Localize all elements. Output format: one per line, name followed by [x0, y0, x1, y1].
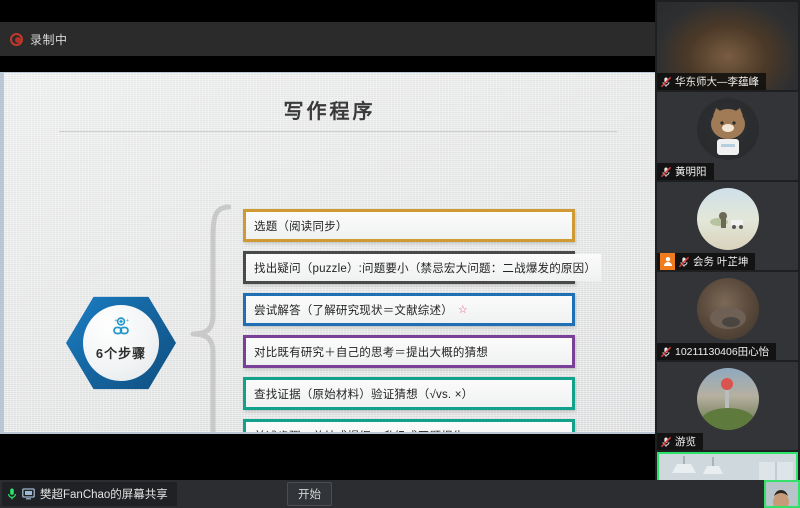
start-button-label: 开始	[298, 486, 321, 502]
presentation-slide: 写作程序 + + 6个步骤	[0, 72, 655, 434]
participant-name: 游览	[675, 434, 696, 449]
participant-name-badge: 华东师大—李蕴峰	[657, 73, 766, 90]
participant-avatar	[697, 368, 759, 430]
participant-tile[interactable]: 黄明阳	[657, 92, 798, 180]
mic-off-icon	[660, 346, 672, 358]
step-text: 前述步骤，总结成提纲→升级成开题报告	[254, 428, 465, 435]
participant-name-badge: 黄明阳	[657, 163, 714, 180]
hexagon-inner-circle: + + 6个步骤	[83, 305, 159, 381]
recording-indicator[interactable]: 录制中	[10, 31, 68, 48]
recording-toolbar: 录制中	[0, 22, 655, 56]
step-text: 找出疑问（puzzle）:问题要小（禁忌宏大问题：二战爆发的原因）	[254, 260, 596, 276]
mic-off-icon	[660, 76, 672, 88]
participant-tile[interactable]: 会务 叶芷坤	[657, 182, 798, 270]
step-star-icon: ☆	[458, 303, 468, 316]
participant-video-strip: 华东师大—李蕴峰	[655, 0, 800, 480]
svg-text:+: +	[126, 318, 129, 324]
participant-name: 黄明阳	[675, 164, 707, 179]
monitor-icon	[22, 488, 35, 500]
taskbar: 樊超FanChao的屏幕共享 开始	[0, 480, 800, 508]
letterbox-bottom	[0, 436, 655, 480]
step-box-inner: 对比既有研究＋自己的思考＝提出大概的猜想	[246, 338, 572, 365]
hexagon-label: 6个步骤	[83, 343, 159, 362]
record-dot-icon	[10, 33, 23, 46]
participant-tile[interactable]: 华东师大—李蕴峰	[657, 2, 798, 90]
mic-off-icon	[660, 166, 672, 178]
step-text: 尝试解答（了解研究现状＝文献综述）	[254, 302, 453, 318]
participant-name-badge: 游览	[657, 433, 703, 450]
step-box: 选题（阅读同步）	[243, 209, 575, 242]
step-box: 前述步骤，总结成提纲→升级成开题报告	[243, 419, 575, 434]
participant-avatar	[697, 98, 759, 160]
step-text: 对比既有研究＋自己的思考＝提出大概的猜想	[254, 344, 488, 360]
title-divider	[59, 131, 617, 132]
step-box-inner: 查找证据（原始材料）验证猜想（√vs. ×）	[246, 380, 572, 407]
mic-off-icon	[678, 256, 690, 268]
participant-name: 10211130406田心怡	[675, 344, 769, 359]
slide-title: 写作程序	[4, 95, 655, 124]
taskbar-share-label: 樊超FanChao的屏幕共享	[40, 486, 168, 502]
step-box: 查找证据（原始材料）验证猜想（√vs. ×）	[243, 377, 575, 410]
taskbar-self-video-thumb[interactable]	[764, 480, 800, 508]
screen-share-region: 录制中 写作程序 + +	[0, 0, 655, 480]
step-text: 选题（阅读同步）	[254, 218, 348, 234]
step-box-inner: 前述步骤，总结成提纲→升级成开题报告	[246, 422, 572, 434]
participant-name: 会务 叶芷坤	[693, 254, 748, 269]
mic-off-icon	[660, 436, 672, 448]
svg-text:+: +	[115, 318, 118, 324]
step-box: 找出疑问（puzzle）:问题要小（禁忌宏大问题：二战爆发的原因）	[243, 251, 575, 284]
mic-on-icon[interactable]	[6, 487, 18, 501]
participant-name: 华东师大—李蕴峰	[675, 74, 759, 89]
start-button[interactable]: 开始	[287, 482, 332, 506]
participant-avatar	[697, 188, 759, 250]
step-box-inner: 选题（阅读同步）	[246, 212, 572, 239]
letterbox-top	[0, 56, 655, 72]
step-box-inner: 找出疑问（puzzle）:问题要小（禁忌宏大问题：二战爆发的原因）	[246, 254, 601, 281]
recording-label: 录制中	[30, 31, 68, 48]
curly-brace-connector	[187, 203, 231, 434]
participant-name-badge: 10211130406田心怡	[657, 343, 776, 360]
hexagon-node: + + 6个步骤	[66, 295, 184, 403]
taskbar-share-item[interactable]: 樊超FanChao的屏幕共享	[2, 482, 177, 506]
participant-tile[interactable]: 游览	[657, 362, 798, 450]
participant-tile[interactable]: 10211130406田心怡	[657, 272, 798, 360]
step-box: 对比既有研究＋自己的思考＝提出大概的猜想	[243, 335, 575, 368]
step-box: 尝试解答（了解研究现状＝文献综述） ☆	[243, 293, 575, 326]
link-plus-icon: + +	[83, 317, 159, 341]
participant-name-badge: 会务 叶芷坤	[657, 253, 755, 270]
host-icon	[660, 253, 675, 270]
step-box-inner: 尝试解答（了解研究现状＝文献综述） ☆	[246, 296, 572, 323]
step-text: 查找证据（原始材料）验证猜想（√vs. ×）	[254, 386, 473, 402]
participant-avatar	[697, 278, 759, 340]
